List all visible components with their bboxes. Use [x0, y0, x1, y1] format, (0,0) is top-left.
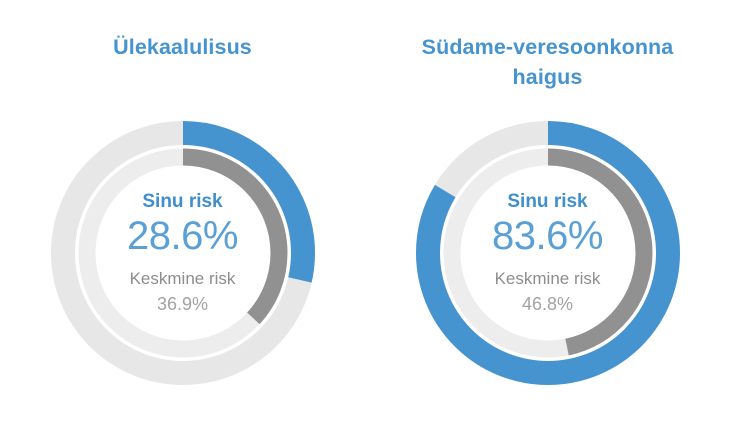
- average-risk-value: 36.9%: [157, 292, 208, 316]
- your-risk-value: 83.6%: [492, 214, 603, 258]
- your-risk-label: Sinu risk: [142, 191, 222, 213]
- average-risk-label: Keskmine risk: [130, 268, 236, 290]
- average-risk-value: 46.8%: [522, 292, 573, 316]
- donut-chart-obesity: Sinu risk 28.6% Keskmine risk 36.9%: [51, 121, 315, 385]
- your-risk-value: 28.6%: [127, 214, 238, 258]
- risk-panel-cardiovascular: Südame-veresoonkonna haigus Sinu risk 83…: [365, 0, 730, 432]
- risk-donut-board: Ülekaalulisus Sinu risk 28.6% Keskmine r…: [0, 0, 730, 432]
- panel-title: Südame-veresoonkonna haigus: [365, 32, 730, 92]
- donut-center-labels: Sinu risk 83.6% Keskmine risk 46.8%: [416, 121, 680, 385]
- risk-panel-obesity: Ülekaalulisus Sinu risk 28.6% Keskmine r…: [0, 0, 365, 432]
- donut-chart-cardiovascular: Sinu risk 83.6% Keskmine risk 46.8%: [416, 121, 680, 385]
- donut-center-labels: Sinu risk 28.6% Keskmine risk 36.9%: [51, 121, 315, 385]
- panel-title: Ülekaalulisus: [0, 32, 365, 62]
- your-risk-label: Sinu risk: [507, 191, 587, 213]
- average-risk-label: Keskmine risk: [495, 268, 601, 290]
